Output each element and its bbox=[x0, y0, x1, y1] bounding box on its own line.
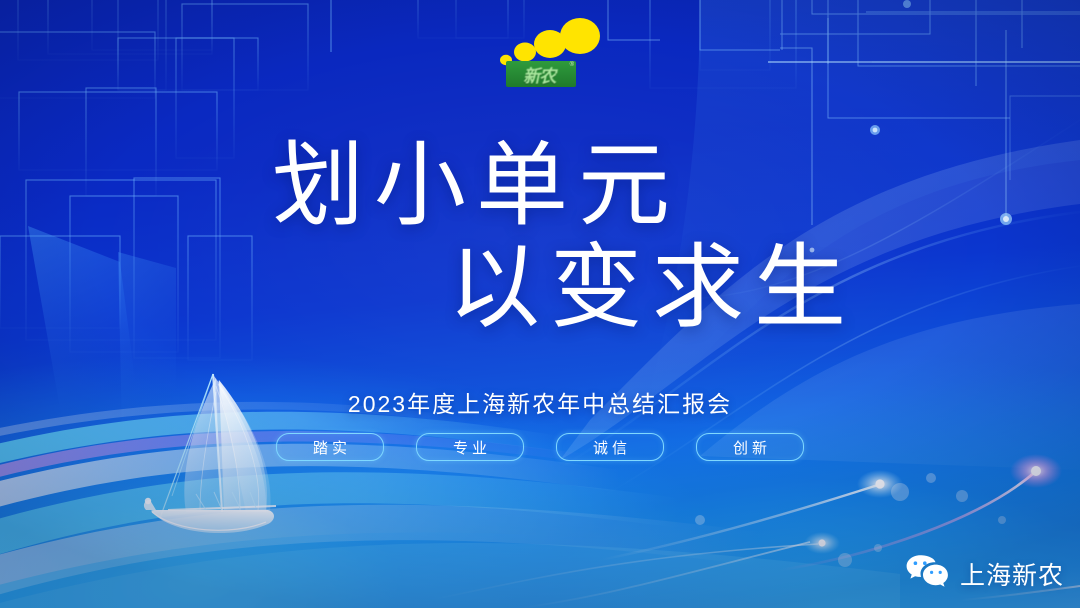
event-subtitle: 2023年度上海新农年中总结汇报会 bbox=[0, 385, 1080, 419]
headline-line-2: 以变求生 bbox=[448, 240, 1080, 336]
shanghai-xinnong-logo: 新农 ® bbox=[492, 14, 602, 96]
wechat-account-name: 上海新农 bbox=[960, 556, 1064, 592]
registered-mark: ® bbox=[570, 62, 574, 68]
logo-wordmark-text: 新农 bbox=[522, 62, 559, 87]
wechat-icon bbox=[905, 553, 951, 594]
logo-wordmark: 新农 ® bbox=[506, 61, 576, 87]
headline-line-1: 划小单元 bbox=[272, 138, 1080, 234]
poster-canvas: 新农 ® 划小单元 以变求生 2023年度上海新农年中总结汇报会 踏实 专业 诚… bbox=[0, 0, 1080, 608]
headline-block: 划小单元 以变求生 bbox=[0, 138, 1080, 335]
value-tag-1: 踏实 bbox=[276, 433, 384, 461]
value-tag-3: 诚信 bbox=[556, 433, 664, 461]
wechat-account-badge: 上海新农 bbox=[905, 553, 1064, 594]
value-tag-4: 创新 bbox=[696, 433, 804, 461]
value-tag-2: 专业 bbox=[416, 433, 524, 461]
value-tags-row: 踏实 专业 诚信 创新 bbox=[0, 433, 1080, 461]
